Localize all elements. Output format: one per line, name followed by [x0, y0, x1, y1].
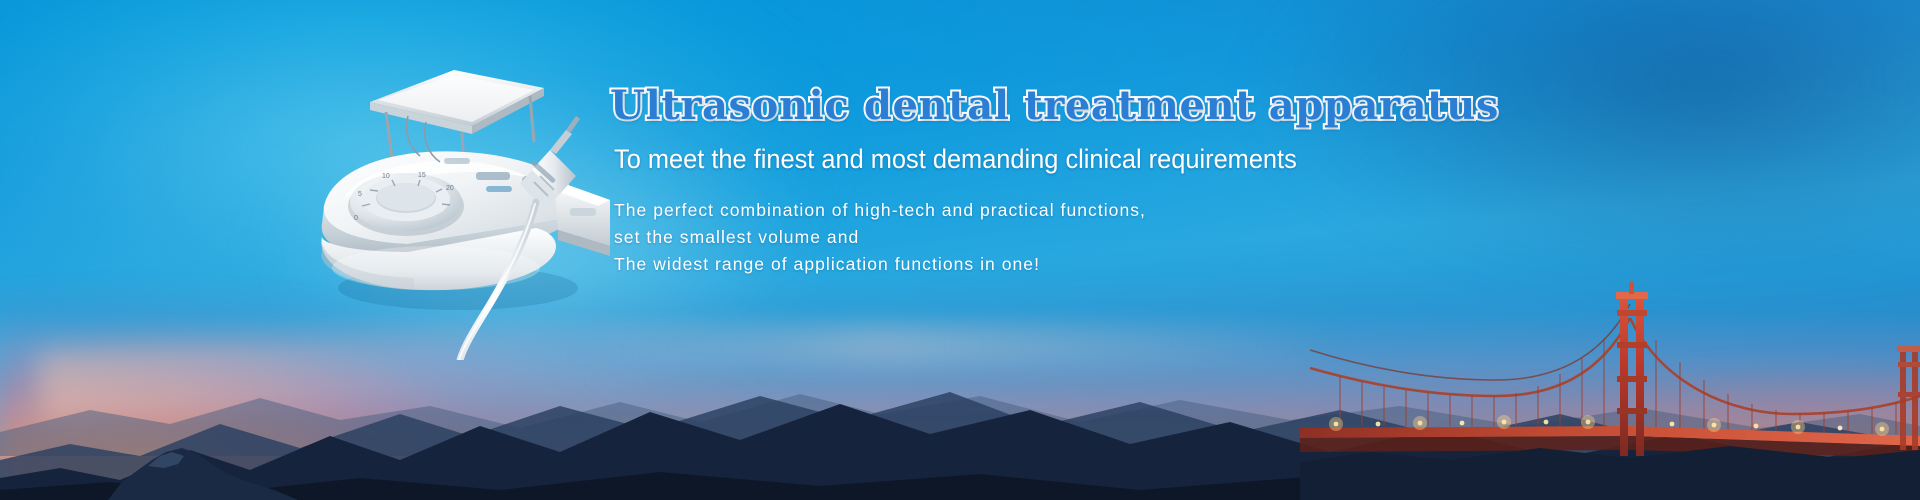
svg-text:10: 10 — [382, 173, 390, 180]
banner-copy-block: Ultrasonic dental treatment apparatus To… — [610, 84, 1370, 278]
svg-text:15: 15 — [418, 172, 426, 179]
device-top-tray — [370, 70, 544, 134]
rocky-outcrop-left — [108, 430, 298, 500]
banner-body-line-2: set the smallest volume and — [614, 224, 1370, 251]
banner-body-line-3: The widest range of application function… — [614, 251, 1370, 278]
svg-text:0: 0 — [354, 215, 358, 222]
hero-banner: 0 5 10 15 20 — [0, 0, 1920, 500]
svg-text:20: 20 — [446, 185, 454, 192]
banner-subheadline: To meet the finest and most demanding cl… — [614, 143, 1325, 175]
ultrasonic-dental-scaler-device: 0 5 10 15 20 — [258, 30, 638, 360]
banner-body-line-1: The perfect combination of high-tech and… — [614, 197, 1370, 224]
golden-gate-bridge-graphic — [1300, 200, 1920, 500]
banner-headline: Ultrasonic dental treatment apparatus — [610, 84, 1370, 129]
banner-body-copy: The perfect combination of high-tech and… — [614, 197, 1370, 278]
bridge-tower-far — [1897, 346, 1920, 450]
svg-text:5: 5 — [358, 191, 362, 198]
